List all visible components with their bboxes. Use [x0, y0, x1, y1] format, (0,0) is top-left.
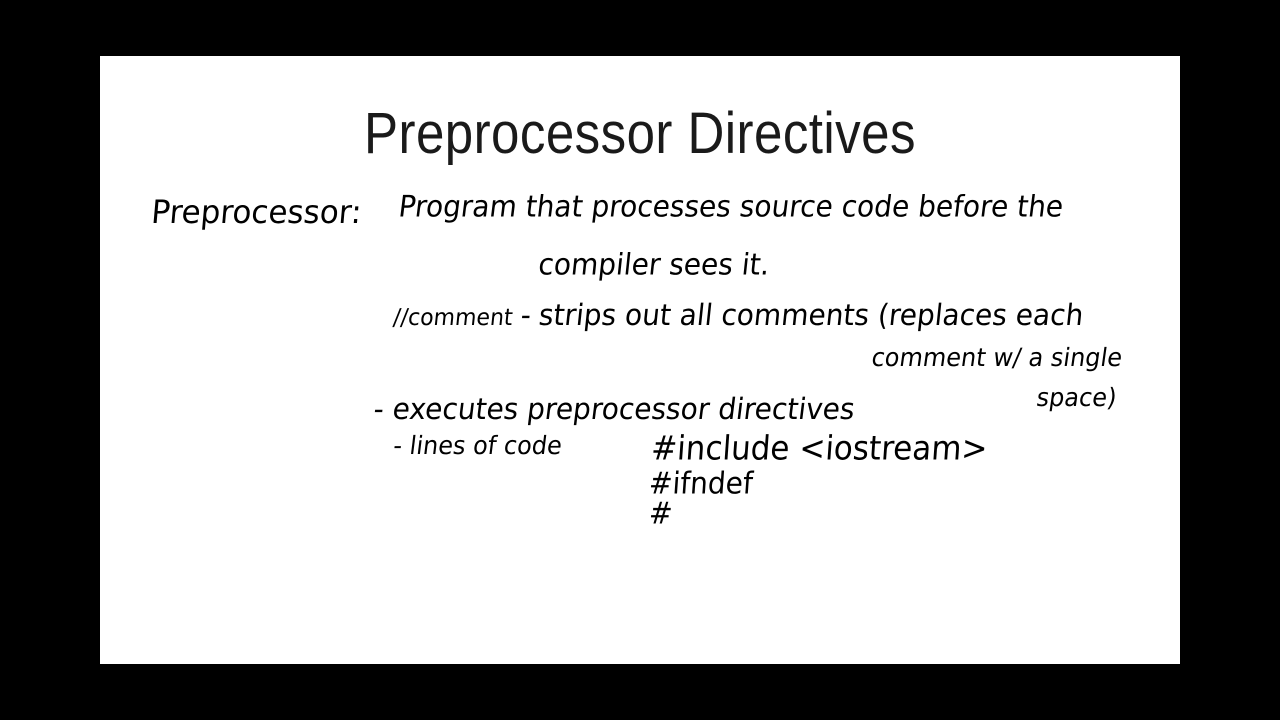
handwriting-comment-rest: strips out all comments (replaces each [537, 297, 1085, 332]
handwriting-definition-line-2: compiler sees it. [537, 250, 771, 280]
handwriting-directive-ifndef: #ifndef [648, 469, 754, 499]
slide-viewer: Preprocessor Directives Preprocessor: Pr… [0, 0, 1280, 720]
handwriting-directive-partial: # [648, 499, 674, 529]
handwriting-term-label: Preprocessor: [150, 197, 363, 229]
handwriting-directive-include: #include <iostream> [650, 433, 989, 466]
handwriting-comment-token: //comment [392, 305, 514, 331]
handwriting-bullet-executes: - executes preprocessor directives [372, 395, 856, 424]
handwriting-comment-continuation-1: comment w/ a single [870, 345, 1124, 370]
handwriting-definition-line-1: Program that processes source code befor… [397, 192, 1065, 222]
handwriting-layer: Preprocessor: Program that processes sou… [100, 56, 1180, 664]
handwriting-bullet-lines-of-code: - lines of code [392, 433, 563, 458]
slide-canvas: Preprocessor Directives Preprocessor: Pr… [100, 56, 1180, 664]
handwriting-comment-continuation-2: space) [1035, 385, 1118, 410]
handwriting-comment-line: //comment-strips out all comments (repla… [392, 301, 1085, 330]
